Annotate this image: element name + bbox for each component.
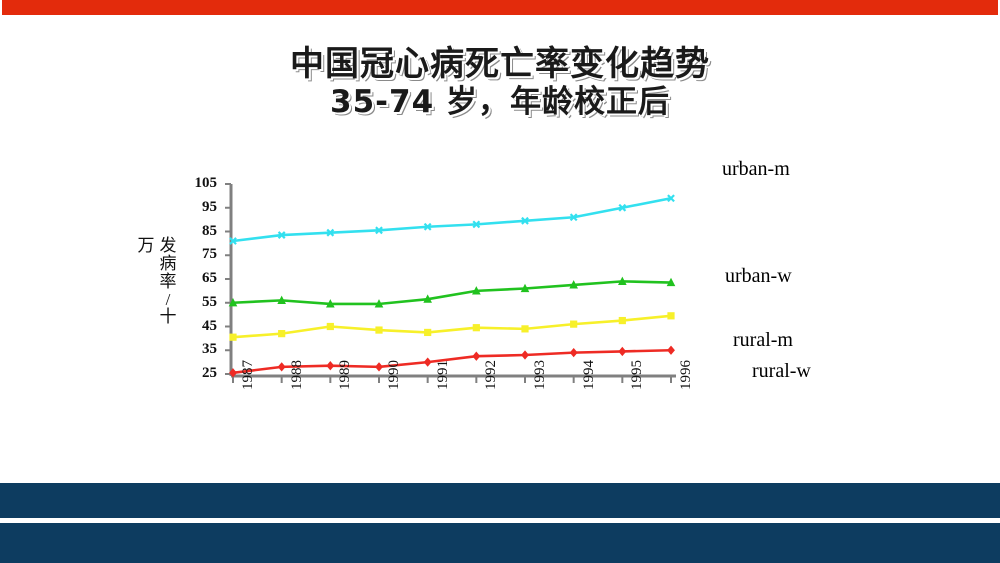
series-rural-m bbox=[230, 313, 674, 341]
data-point bbox=[522, 326, 528, 332]
legend-label-rural-m: rural-m bbox=[733, 329, 793, 352]
series-urban-m bbox=[230, 195, 674, 244]
data-point bbox=[327, 362, 334, 370]
plot-area-svg bbox=[0, 0, 1000, 563]
bottom-accent-band-upper bbox=[0, 483, 1000, 518]
x-tick-label-1996: 1996 bbox=[678, 360, 695, 390]
x-tick-label-1989: 1989 bbox=[337, 360, 354, 390]
x-tick-label-1990: 1990 bbox=[386, 360, 403, 390]
data-point bbox=[668, 313, 674, 319]
y-tick-label-75: 75 bbox=[183, 246, 217, 263]
y-tick-label-55: 55 bbox=[183, 294, 217, 311]
chart-series-layer bbox=[230, 195, 675, 377]
data-point bbox=[473, 325, 479, 331]
data-point bbox=[522, 351, 529, 359]
x-tick-label-1993: 1993 bbox=[532, 360, 549, 390]
data-point bbox=[279, 331, 285, 337]
legend-label-urban-m: urban-m bbox=[722, 158, 790, 181]
data-point bbox=[424, 358, 431, 366]
data-point bbox=[278, 363, 285, 371]
legend-label-rural-w: rural-w bbox=[752, 360, 811, 383]
y-tick-label-85: 85 bbox=[183, 223, 217, 240]
data-point bbox=[376, 327, 382, 333]
x-tick-label-1988: 1988 bbox=[289, 360, 306, 390]
data-point bbox=[327, 323, 333, 329]
bottom-accent-band-lower bbox=[0, 523, 1000, 563]
data-point bbox=[619, 317, 625, 323]
x-tick-label-1995: 1995 bbox=[629, 360, 646, 390]
data-point bbox=[570, 349, 577, 357]
data-point bbox=[473, 352, 480, 360]
data-point bbox=[230, 334, 236, 340]
slide-canvas: 中国冠心病死亡率变化趋势 35-74 岁，年龄校正后 万 发 病 率 / 十 2… bbox=[0, 0, 1000, 563]
y-tick-label-95: 95 bbox=[183, 199, 217, 216]
data-point bbox=[668, 346, 675, 354]
series-urban-w bbox=[230, 278, 675, 307]
x-tick-label-1992: 1992 bbox=[483, 360, 500, 390]
y-tick-label-65: 65 bbox=[183, 270, 217, 287]
y-tick-label-45: 45 bbox=[183, 318, 217, 335]
x-tick-label-1991: 1991 bbox=[435, 360, 452, 390]
data-point bbox=[376, 363, 383, 371]
x-tick-label-1994: 1994 bbox=[581, 360, 598, 390]
x-tick-label-1987: 1987 bbox=[240, 360, 257, 390]
y-tick-label-25: 25 bbox=[183, 365, 217, 382]
y-tick-label-35: 35 bbox=[183, 341, 217, 358]
data-point bbox=[571, 321, 577, 327]
y-tick-label-105: 105 bbox=[183, 175, 217, 192]
legend-label-urban-w: urban-w bbox=[725, 265, 792, 288]
data-point bbox=[619, 348, 626, 356]
line-chart: 万 发 病 率 / 十 2535455565758595105 19871988… bbox=[0, 0, 1000, 563]
data-point bbox=[425, 329, 431, 335]
